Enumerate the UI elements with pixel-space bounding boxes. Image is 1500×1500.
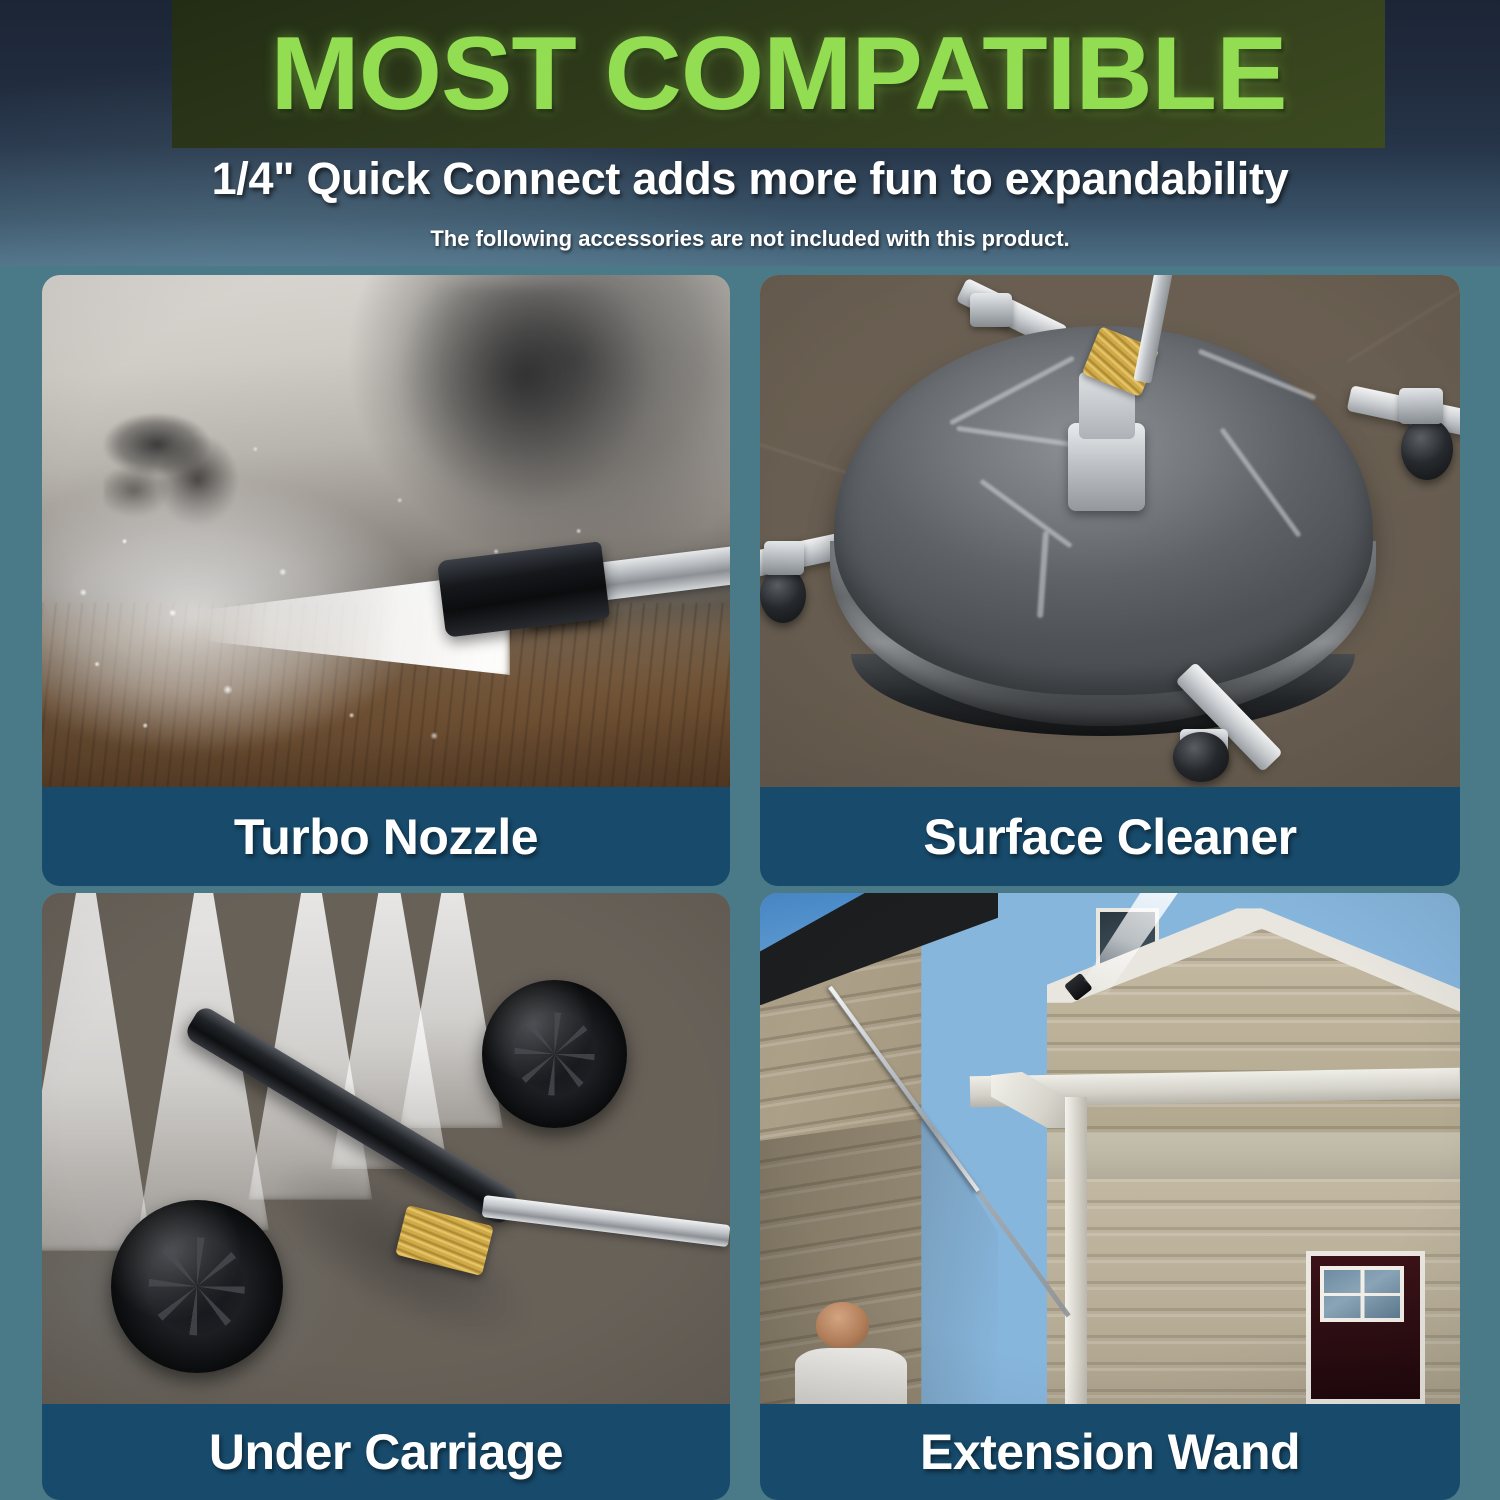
wheel-spokes [149,1238,245,1335]
turbo-nozzle-photo [42,275,730,787]
caster-bracket-2 [764,541,804,575]
carriage-wheel-front [111,1200,283,1374]
disclaimer-text: The following accessories are not includ… [0,218,1500,260]
downspout [1065,1097,1087,1404]
card-caption-under-carriage: Under Carriage [42,1404,730,1500]
under-carriage-photo [42,893,730,1404]
extension-wand-photo [760,893,1460,1404]
promo-header: MOST COMPATIBLE 1/4" Quick Connect adds … [0,0,1500,266]
caster-bracket-4 [970,293,1012,327]
wheel-spokes [514,1012,595,1095]
caster-wheel-3 [1173,732,1229,782]
water-droplets [42,275,730,787]
page-title: MOST COMPATIBLE [154,0,1403,148]
carriage-wheel-rear [482,980,626,1128]
card-caption-turbo-nozzle: Turbo Nozzle [42,787,730,886]
accessory-card-under-carriage[interactable]: Under Carriage [42,893,730,1500]
surface-cleaner-photo [760,275,1460,787]
subtitle: 1/4" Quick Connect adds more fun to expa… [0,148,1500,210]
caster-wheel-2 [760,567,806,623]
card-caption-surface-cleaner: Surface Cleaner [760,787,1460,886]
door-window-muntins [1320,1266,1404,1322]
accessory-grid: Turbo Nozzle [0,266,1500,1500]
caster-wheel-1 [1401,418,1453,480]
accessory-card-turbo-nozzle[interactable]: Turbo Nozzle [42,275,730,886]
operator-body [795,1348,907,1404]
card-caption-extension-wand: Extension Wand [760,1404,1460,1500]
accessory-card-extension-wand[interactable]: Extension Wand [760,893,1460,1500]
operator-head [816,1302,869,1348]
accessory-card-surface-cleaner[interactable]: Surface Cleaner [760,275,1460,886]
caster-bracket-1 [1399,388,1443,424]
